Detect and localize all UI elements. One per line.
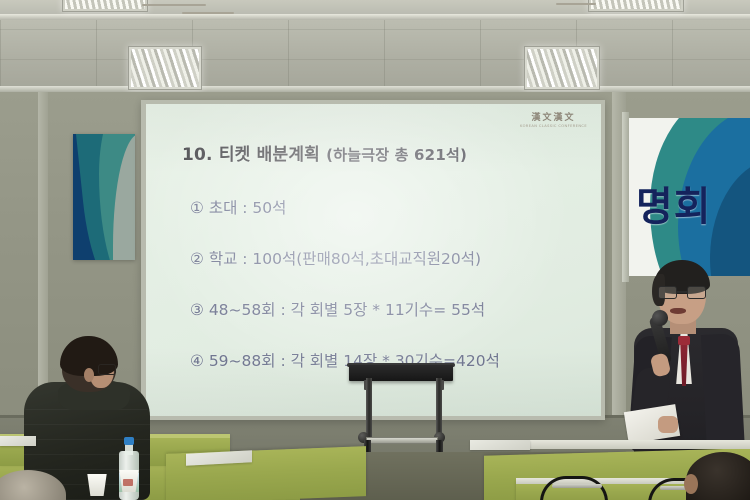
slide-line-2: ② 학교 : 100석(판매80석,초대교직원20석) — [190, 247, 590, 269]
ceiling-wire-left-2 — [182, 12, 234, 14]
presenter-mouth — [670, 308, 686, 314]
papers-on-right-table — [470, 440, 530, 450]
slide-line-1: ① 초대 : 50석 — [190, 196, 590, 218]
presenter-shoulder-right — [701, 333, 745, 455]
ceiling-light-fixture-top-left — [62, 0, 148, 12]
conference-room-scene: 명회 漢文漢文 KOREAN CLASSIC CONFERENCE 10. 티켓… — [0, 0, 750, 500]
slide-title-main: 티켓 배분계획 — [219, 145, 320, 165]
ceiling-wire-left — [142, 4, 206, 6]
wall-banner-right: 명회 — [626, 118, 750, 276]
audience-left-ear — [84, 368, 94, 382]
slide-title-paren: (하늘극장 총 621석) — [326, 146, 467, 164]
slide-logo-subtitle: KOREAN CLASSIC CONFERENCE — [520, 124, 587, 128]
wall-banner-right-text: 명회 — [636, 174, 712, 232]
ceiling-light-fixture-left — [128, 46, 202, 90]
chair-right-1-rail — [552, 484, 602, 488]
slide-title: 10. 티켓 배분계획 (하늘극장 총 621석) — [182, 140, 467, 165]
lectern-post-left — [366, 378, 372, 440]
audience-member-bottom-right-ear — [684, 474, 698, 494]
paper-cup-logo — [123, 479, 133, 486]
audience-left-glasses — [98, 364, 116, 375]
slide-title-number: 10. — [182, 145, 213, 165]
presenter-hand-holding-papers — [658, 416, 678, 433]
slide-logo: 漢文漢文 KOREAN CLASSIC CONFERENCE — [520, 110, 587, 128]
presenter-tie-knot — [678, 336, 690, 345]
bottle-cap — [124, 437, 134, 445]
ceiling-tile-grid — [0, 20, 750, 90]
lectern-post-right — [436, 378, 442, 440]
wall-banner-left — [73, 134, 135, 260]
ceiling-light-fixture-right — [524, 46, 600, 90]
presenter-glasses — [658, 286, 706, 299]
lectern-crossbar — [366, 437, 438, 444]
ceiling-light-fixture-top-right — [588, 0, 684, 12]
papers-on-left-table — [0, 436, 36, 446]
slide-logo-main: 漢文漢文 — [520, 110, 587, 123]
wall-banner-right-edge — [622, 112, 629, 282]
slide-line-3: ③ 48~58회 : 각 회별 5장 * 11기수= 55석 — [190, 298, 590, 320]
ceiling-wire-right — [556, 3, 596, 5]
